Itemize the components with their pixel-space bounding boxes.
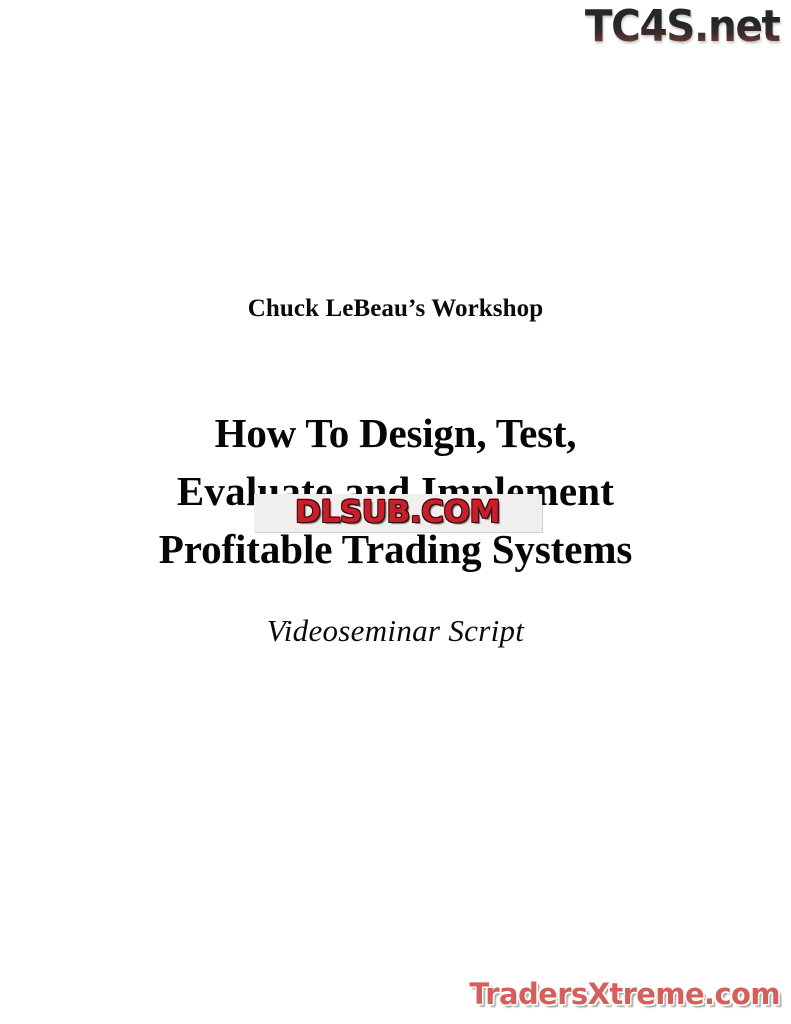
dlsub-watermark: DLSUB.COM xyxy=(254,494,542,532)
tradersxtreme-com-logo: TradersXtreme.com xyxy=(469,978,780,1011)
workshop-byline: Chuck LeBeau’s Workshop xyxy=(0,293,791,325)
page-title-line-1: How To Design, Test, xyxy=(0,404,791,462)
tc4s-net-logo: TC4S.net xyxy=(585,2,780,52)
page-subtitle: Videoseminar Script xyxy=(0,609,791,653)
document-page: TC4S.net Chuck LeBeau’s Workshop How To … xyxy=(0,0,791,1024)
dlsub-watermark-text: DLSUB.COM xyxy=(295,496,500,530)
page-title: How To Design, Test, Evaluate and Implem… xyxy=(0,404,791,578)
